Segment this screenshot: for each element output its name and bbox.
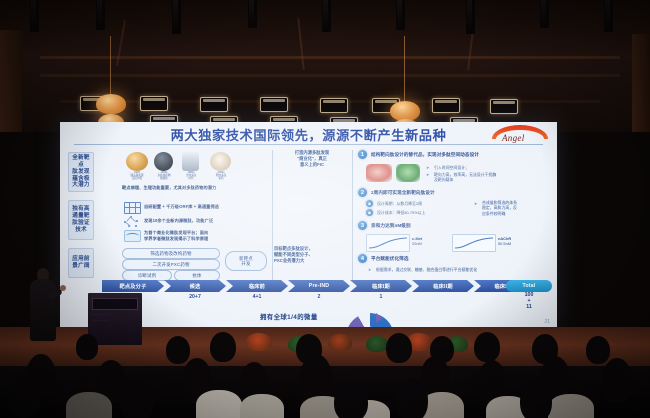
row2-text-2: 发现10余个全新内源微肽，功能广泛 [144, 218, 304, 224]
ceiling-light-fixture [466, 0, 475, 34]
audience-shoulder [548, 394, 594, 418]
cycle-bottom-callout: 目标靶点多肽设计， 赋能不同类型分子、 PXC业务潜力大 [274, 246, 356, 263]
audience-shoulder [240, 394, 284, 418]
chip-label-2: nAChR 50.5nM [498, 236, 511, 247]
cycle-top-callout: 打造内源多肽发现 "商业化"，真正 意义上的FIC [274, 150, 350, 167]
chip-name: c-Met [412, 236, 422, 241]
podium-header-panel [92, 298, 138, 310]
audience-head [474, 332, 500, 362]
bullet-arrow-icon: ➤ [426, 172, 429, 177]
point-heading-2: 2周内即可实现全新靶向肽设计 [371, 190, 541, 196]
pill-new-target: 新靶点 开发 [225, 251, 267, 271]
side-label-card-1: 全新靶点 肽发现 蕴含极 大潜力 [68, 152, 94, 192]
ceiling-light-fixture [604, 0, 613, 32]
row2-text-1: 自研配置 + 千万级ORF库 + 高通量筛选 [144, 204, 304, 210]
point-number-2: 2 [358, 188, 367, 197]
pendant-lamp [96, 94, 126, 114]
molecule-render-red [366, 164, 392, 182]
pipeline-stage-5: 临床II期 [412, 280, 474, 292]
point-bullet-2b: 设计成本：降低50-70%以上 [377, 210, 477, 215]
binding-curve-icon [453, 235, 495, 251]
audience-head [586, 336, 610, 364]
slide-footer-text: 拥有全球1/4的微量 [260, 312, 318, 321]
ceiling [0, 0, 650, 132]
pipeline-stage-2: 临床前 [226, 280, 288, 292]
pill-diagnostics: 诊断试剂 [122, 270, 172, 281]
audience-head [210, 332, 236, 362]
point-bullet-4a: 根据需求，通过交联、糖基、融合蛋白等进行平台赋能优化 [376, 267, 556, 272]
point-heading-4: 平台赋能优化筛选 [371, 256, 541, 262]
thumbnail-caption-4: 2000s 靶向多肽 新药 [206, 172, 236, 181]
side-label-card-2: 独有高 通量靶 肽验证 技术 [68, 200, 94, 240]
pipeline-value-3: 2 [288, 294, 350, 301]
side-label-text: 应用前 景广阔 [72, 256, 89, 270]
thumbnail-caption-3: 1980s 合成多肽 时代 [176, 172, 206, 181]
stage-light [260, 97, 288, 112]
pipeline-stage-0: 靶点及分子 [102, 280, 164, 292]
subpoint-icon-2a: ◉ [366, 200, 373, 207]
row2-text-3: 为首个商业化微肽发现平台；面向 学界学者微肽发现揭示了科学原理 [144, 230, 309, 241]
stage-light [140, 96, 168, 111]
ceiling-light-fixture [396, 0, 405, 30]
stage-light [320, 98, 348, 113]
angel-logo: Angel [490, 124, 552, 144]
pipeline-value-1: 20+7 [164, 294, 226, 301]
point-bullet-2a: 设计周期：从数月降至2周 [377, 201, 477, 206]
bullet-arrow-icon: ➤ [368, 267, 371, 272]
pipeline-stage-4: 临床I期 [350, 280, 412, 292]
ceiling-light-fixture [322, 0, 331, 32]
molecule-render-green [396, 164, 420, 182]
point-heading-1: 结构靶向肽设计的替代品，实现对多肽空间动态设计 [371, 152, 551, 158]
audience-head [602, 358, 632, 402]
pill-pxc-drugs: 二次开发PXC药物 [122, 259, 220, 270]
pipeline-value-4: 1 [350, 294, 412, 301]
nobel-medal-image [126, 152, 148, 171]
podium-detail-text: · · · · · · · · · [93, 319, 139, 323]
title-divider [74, 144, 543, 145]
caption-text: 胰岛素发现 诺贝尔奖 [131, 174, 144, 180]
ceiling-light-fixture [172, 0, 181, 34]
binding-curve-icon [367, 235, 409, 251]
stage-light [490, 99, 518, 114]
row1-description: 靶点病理、生理功能重要，尤其对多肽药物的潜力 [122, 185, 302, 191]
point-number-4: 4 [358, 254, 367, 263]
pipeline-stage-1: 候选 [164, 280, 226, 292]
chip-label-1: c-Met 20nM [412, 236, 422, 247]
point-heading-3: 亲和力达到nM级别 [371, 223, 541, 229]
speaker-hand [60, 285, 66, 291]
caption-text: 多肽类药物 规模化 [158, 174, 171, 180]
pill-antibody: 抗体 [174, 270, 220, 281]
pendant-lamp [390, 101, 420, 121]
pipeline-value-2: 4+1 [226, 294, 288, 301]
library-icon [124, 202, 141, 214]
audience-shoulder [196, 390, 242, 418]
audience-head [76, 334, 98, 360]
point-number-3: 3 [358, 221, 367, 230]
point-sidenote-2: 合成量和筛选的体系 稳定，高和力高，反 应条件较明确 [482, 200, 552, 216]
subpoint-icon-2b: ◉ [366, 209, 373, 216]
caption-text: 合成多肽 时代 [186, 174, 196, 180]
column-divider-left [272, 150, 273, 280]
audience-head [334, 382, 368, 418]
audience [0, 330, 650, 418]
ceiling-light-fixture [96, 0, 105, 30]
column-divider-right [352, 150, 353, 280]
chart-icon [124, 230, 141, 242]
audience-head [6, 374, 40, 418]
pipeline-stage-3: Pre-IND [288, 280, 350, 292]
audience-head [166, 336, 190, 364]
conference-hall-photo: 两大独家技术国际领先，源源不断产生新品种 Angel 全新靶点 肽发现 蕴含极 … [0, 0, 650, 418]
slide-page-number: 21 [544, 319, 550, 325]
pipeline-total-value: 100 + 11 [506, 293, 552, 311]
chip-name: nAChR [498, 236, 511, 241]
audience-head [386, 333, 412, 363]
historic-photo-image [154, 152, 173, 171]
audience-head [120, 380, 154, 418]
point-number-1: 1 [358, 150, 367, 159]
point-bullet-1a: 引入时间空间设计； [434, 165, 552, 170]
pipeline-total-header: Total [506, 280, 552, 292]
audience-head [396, 378, 428, 418]
chip-value: 50.5nM [498, 241, 511, 246]
stage-light [200, 97, 228, 112]
cycle-diagram: 内源 发现 外源 设计 [346, 313, 394, 327]
ceiling-light-fixture [540, 0, 549, 28]
point-bullet-1b: 靶向力高，效率高，无法设计干扰酶 及靶向载体 [434, 172, 552, 183]
ceiling-light-fixture [30, 0, 39, 32]
logo-wordmark: Angel [502, 133, 525, 143]
slide-title: 两大独家技术国际领先，源源不断产生新品种 [60, 125, 557, 144]
network-icon [124, 216, 139, 227]
audience-shoulder [66, 392, 112, 418]
audience-head [300, 354, 332, 402]
side-label-text: 独有高 通量靶 肽验证 技术 [72, 206, 89, 234]
bullet-arrow-icon: ➤ [474, 201, 477, 206]
vial-image [182, 152, 199, 171]
chip-value: 20nM [412, 241, 422, 246]
bullet-arrow-icon: ➤ [426, 165, 429, 170]
podium-subtitle-text: · · · · · · · · · · [93, 313, 139, 317]
caption-text: 靶向多肽 新药 [216, 174, 226, 180]
ceiling-light-fixture [248, 0, 257, 28]
side-label-text: 全新靶点 肽发现 蕴含极 大潜力 [70, 155, 92, 190]
cell-image [210, 152, 231, 171]
stage-light [432, 98, 460, 113]
side-label-card-3: 应用前 景广阔 [68, 248, 94, 278]
cycle-arrow-head-top [376, 313, 383, 323]
curve-chart-2 [452, 234, 496, 252]
curve-chart-1 [366, 234, 410, 252]
pill-screening-drugs: 筛选药物及改构药物 [122, 248, 220, 259]
cycle-ring-icon [346, 313, 394, 327]
audience-head [520, 380, 552, 418]
